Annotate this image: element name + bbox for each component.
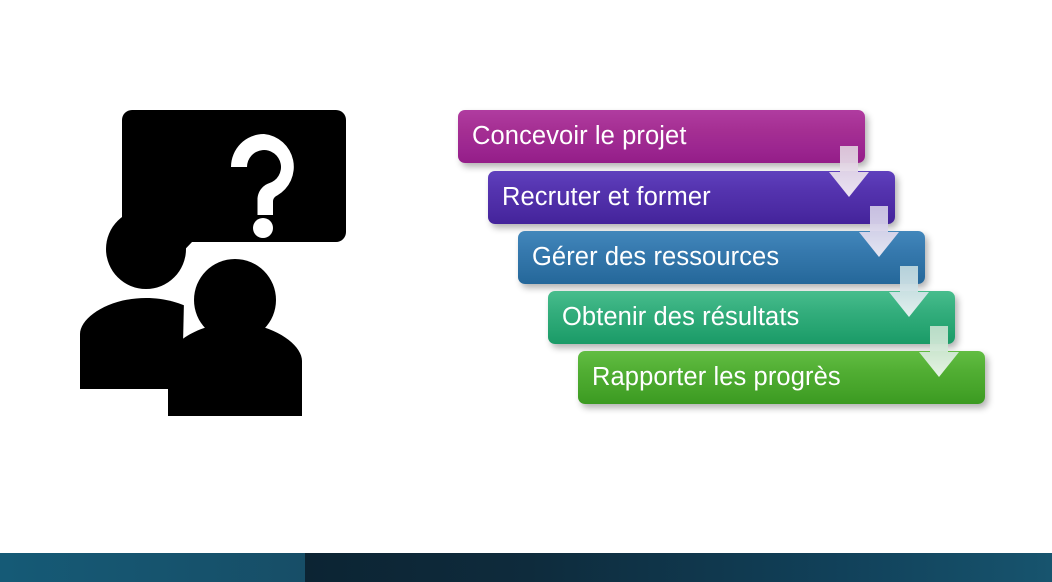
process-step-1[interactable]: Concevoir le projet bbox=[458, 110, 865, 163]
slide-canvas: Concevoir le projet Recruter et former G… bbox=[0, 0, 1052, 582]
process-step-3[interactable]: Gérer des ressources bbox=[518, 231, 925, 284]
footer-color-band bbox=[0, 553, 1052, 582]
process-step-2[interactable]: Recruter et former bbox=[488, 171, 895, 224]
process-step-2-label: Recruter et former bbox=[502, 185, 711, 211]
footer-band-left bbox=[0, 553, 305, 582]
process-step-4[interactable]: Obtenir des résultats bbox=[548, 291, 955, 344]
process-step-5-label: Rapporter les progrès bbox=[592, 365, 841, 391]
process-step-5[interactable]: Rapporter les progrès bbox=[578, 351, 985, 404]
footer-band-right bbox=[305, 553, 1052, 582]
process-step-3-label: Gérer des ressources bbox=[532, 245, 779, 271]
process-step-1-label: Concevoir le projet bbox=[472, 124, 687, 150]
process-step-4-label: Obtenir des résultats bbox=[562, 305, 799, 331]
process-staircase: Concevoir le projet Recruter et former G… bbox=[0, 0, 1052, 582]
